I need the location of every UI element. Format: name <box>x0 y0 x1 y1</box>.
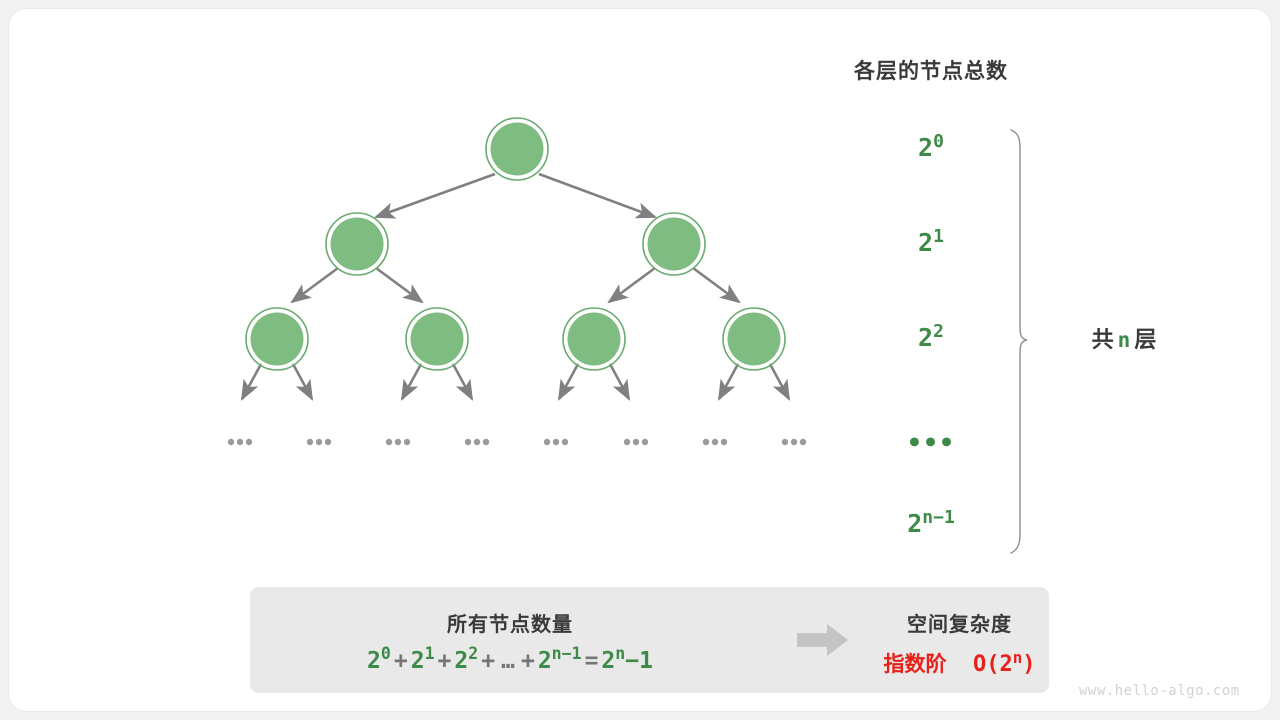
tree-ellipsis-row <box>228 439 806 445</box>
tree-nodes <box>246 118 785 370</box>
level-label-1: 21 <box>871 228 991 257</box>
formula-term-0: 20 <box>367 648 391 674</box>
level-label-2: 22 <box>871 323 991 352</box>
diagram-card: 各层的节点总数 <box>8 8 1272 712</box>
formula-op-plus-2: + <box>438 648 452 674</box>
summary-complexity-value: 指数阶 O(2n) <box>870 637 1049 678</box>
level-label-1-text: 21 <box>918 228 944 257</box>
complexity-notation: O(2n) <box>946 652 1035 677</box>
level-label-2-text: 22 <box>918 323 944 352</box>
right-arrow-icon <box>797 623 849 657</box>
complexity-class-label: 指数阶 <box>883 653 946 676</box>
formula-op-equals: = <box>585 648 599 674</box>
formula-ellipsis: … <box>501 648 515 674</box>
formula-term-1: 21 <box>411 648 435 674</box>
level-label-n: 2n−1 <box>871 509 991 538</box>
level-label-n-text: 2n−1 <box>907 509 955 538</box>
total-layers-variable: n <box>1118 328 1131 352</box>
total-layers-suffix: 层 <box>1134 327 1156 352</box>
summary-node-count-heading: 所有节点数量 <box>250 587 770 637</box>
formula-result: 2n−1 <box>601 648 653 674</box>
tree-edges <box>242 174 789 399</box>
summary-complexity-heading: 空间复杂度 <box>870 587 1049 637</box>
formula-term-n: 2n−1 <box>538 648 582 674</box>
levels-brace <box>1011 130 1027 553</box>
summary-node-count-section: 所有节点数量 20+21+22+…+2n−1=2n−1 <box>250 587 770 693</box>
diagram-canvas: 各层的节点总数 <box>0 0 1280 720</box>
total-layers-prefix: 共 <box>1092 327 1114 352</box>
total-layers-label: 共n层 <box>1049 322 1199 354</box>
summary-box: 所有节点数量 20+21+22+…+2n−1=2n−1 空间复杂度 指数阶 O(… <box>250 587 1049 693</box>
summary-formula: 20+21+22+…+2n−1=2n−1 <box>250 637 770 674</box>
formula-term-2: 22 <box>454 648 478 674</box>
level-label-ellipsis: ••• <box>871 428 991 457</box>
level-label-0: 20 <box>871 133 991 162</box>
summary-complexity-section: 空间复杂度 指数阶 O(2n) <box>870 587 1049 693</box>
formula-op-plus-4: + <box>521 648 535 674</box>
formula-op-plus-3: + <box>481 648 495 674</box>
watermark: www.hello-algo.com <box>1079 683 1240 699</box>
level-label-0-text: 20 <box>918 133 944 162</box>
formula-op-plus-1: + <box>394 648 408 674</box>
summary-arrow-container <box>775 587 870 693</box>
